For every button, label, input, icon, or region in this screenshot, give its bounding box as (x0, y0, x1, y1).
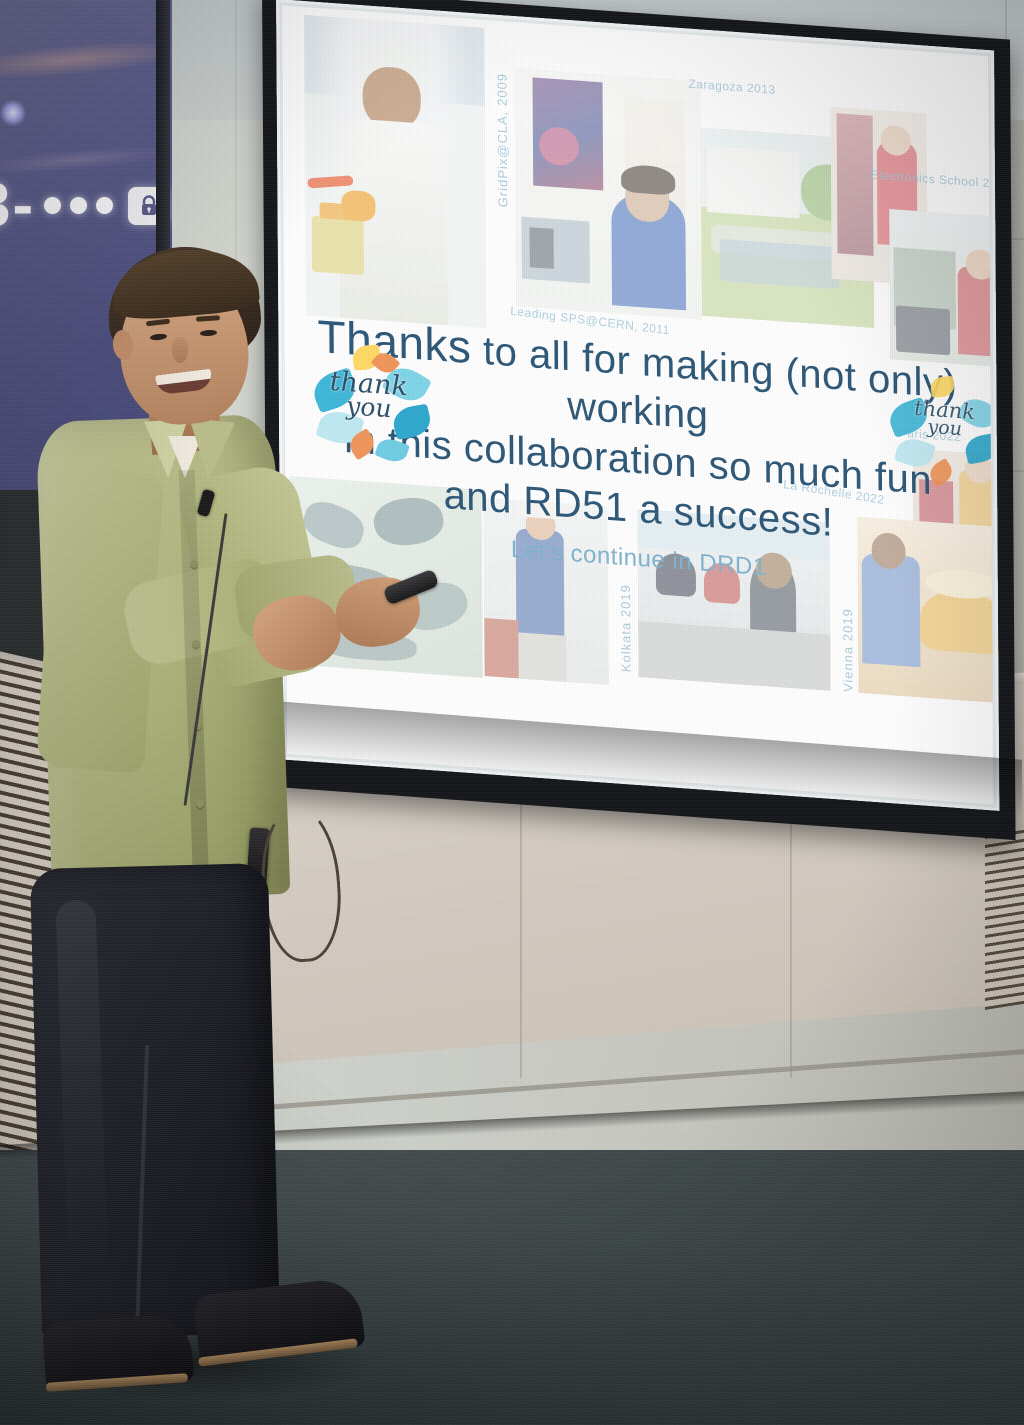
shirt-button (192, 640, 200, 648)
shirt-button (196, 800, 204, 808)
cable-loop (257, 803, 346, 964)
nose (172, 337, 188, 363)
shirt-button (190, 560, 198, 568)
presentation-photo-scene: 3- (0, 0, 1024, 1425)
presenter (0, 0, 1024, 1425)
